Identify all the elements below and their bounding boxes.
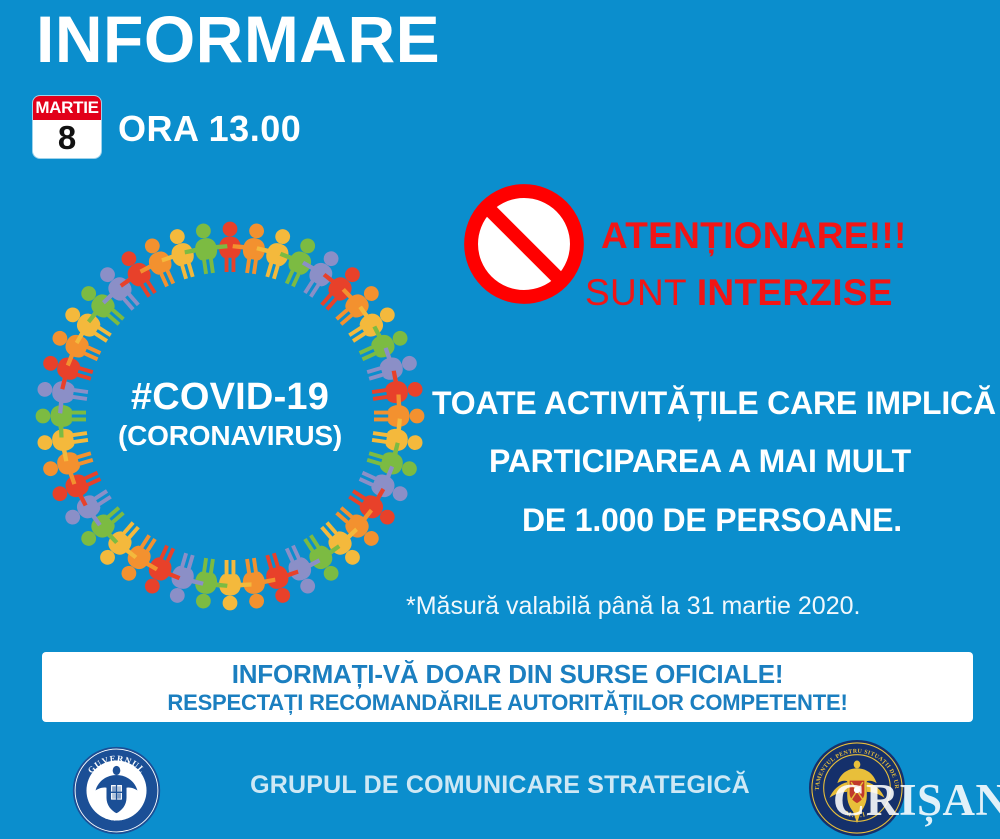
warning-interzise-text: INTERZISE	[697, 272, 893, 313]
covid-people-ring-graphic: #COVID-19 (CORONAVIRUS)	[24, 210, 436, 622]
calendar-day-label: 8	[33, 120, 101, 158]
crisana-watermark: CRIȘANA	[833, 778, 1000, 823]
official-sources-banner: INFORMAȚI-VĂ DOAR DIN SURSE OFICIALE! RE…	[42, 652, 973, 722]
warning-headline: ATENȚIONARE!!!	[601, 215, 907, 257]
people-ring-icon	[24, 210, 436, 622]
prohibition-sign-icon	[461, 181, 587, 307]
banner-line-1: INFORMAȚI-VĂ DOAR DIN SURSE OFICIALE!	[42, 660, 973, 690]
hour-label: ORA 13.00	[118, 108, 301, 150]
page-title: INFORMARE	[36, 6, 440, 72]
message-line-1: TOATE ACTIVITĂȚILE CARE IMPLICĂ	[432, 385, 996, 422]
calendar-icon: MARTIE 8	[33, 96, 101, 158]
banner-line-2: RESPECTAȚI RECOMANDĂRILE AUTORITĂȚILOR C…	[42, 690, 973, 715]
poster-canvas: INFORMARE MARTIE 8 ORA 13.00 #COVID-19 (…	[0, 0, 1000, 839]
warning-subheadline: SUNT INTERZISE	[585, 272, 893, 314]
warning-sunt-text: SUNT	[585, 272, 697, 313]
message-footnote: *Măsură valabilă până la 31 martie 2020.	[406, 592, 860, 621]
message-line-3: DE 1.000 DE PERSOANE.	[522, 502, 902, 539]
calendar-month-label: MARTIE	[33, 96, 101, 120]
message-line-2: PARTICIPAREA A MAI MULT	[489, 443, 911, 480]
